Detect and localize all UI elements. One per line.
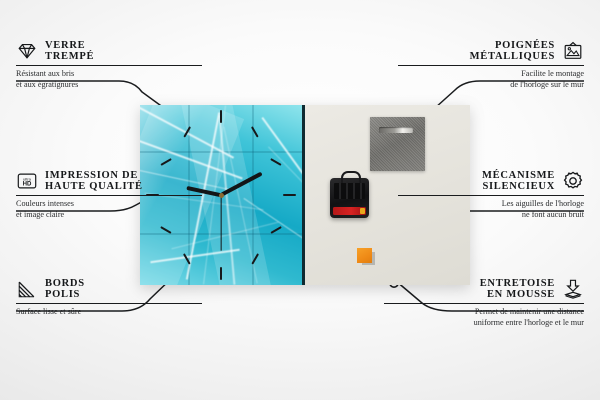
- feature-title: POIGNÉES MÉTALLIQUES: [470, 40, 555, 62]
- feature-description: Couleurs intenses et image claire: [16, 199, 202, 220]
- svg-text:ultra: ultra: [23, 176, 32, 181]
- battery-terminal: [360, 208, 365, 214]
- feature-divider: [384, 303, 584, 304]
- feature-description: Les aiguilles de l'horloge ne font aucun…: [398, 199, 584, 220]
- foam-spacer-icon: [562, 278, 584, 300]
- feature-description: Résistant aux bris et aux égratignures: [16, 69, 202, 90]
- feature-divider: [16, 65, 202, 66]
- feature-title: ENTRETOISE EN MOUSSE: [480, 278, 555, 300]
- foam-spacer: [357, 248, 372, 263]
- clock-movement-box: [330, 178, 369, 218]
- feature-divider: [398, 195, 584, 196]
- hanger-slot: [379, 127, 413, 133]
- feature-description: Facilite le montage de l'horloge sur le …: [398, 69, 584, 90]
- clock-tick-12: [220, 110, 222, 123]
- feature-divider: [16, 303, 202, 304]
- feature-description: Permet de maintenir une distance uniform…: [384, 307, 584, 328]
- infographic-stage: VERRE TREMPÉ Résistant aux bris et aux é…: [0, 0, 600, 400]
- feature-title: IMPRESSION DE HAUTE QUALITÉ: [45, 170, 143, 192]
- movement-hanging-loop: [341, 171, 361, 183]
- clock-center-cap: [219, 193, 224, 198]
- clock-second-hand: [220, 195, 221, 251]
- feature-divider: [16, 195, 202, 196]
- feature-title: VERRE TREMPÉ: [45, 40, 94, 62]
- feature-verre-trempe: VERRE TREMPÉ Résistant aux bris et aux é…: [16, 40, 202, 90]
- ultra-hd-icon: ultra HD: [16, 170, 38, 192]
- feature-description: Surface lisse et sûre: [16, 307, 202, 318]
- movement-label: [334, 183, 365, 199]
- feature-title: MÉCANISME SILENCIEUX: [482, 170, 555, 192]
- feature-title: BORDS POLIS: [45, 278, 85, 300]
- battery: [333, 207, 366, 215]
- svg-text:HD: HD: [23, 182, 32, 188]
- feature-divider: [398, 65, 584, 66]
- feature-impression-haute-qualite: ultra HD IMPRESSION DE HAUTE QUALITÉ Cou…: [16, 170, 202, 220]
- picture-hanger-icon: [562, 40, 584, 62]
- feature-bords-polis: BORDS POLIS Surface lisse et sûre: [16, 278, 202, 318]
- polished-edge-icon: [16, 278, 38, 300]
- clock-tick-6: [220, 267, 222, 280]
- clock-tick-3: [283, 194, 296, 196]
- gear-icon: [562, 170, 584, 192]
- feature-entretoise-en-mousse: ENTRETOISE EN MOUSSE Permet de maintenir…: [384, 278, 584, 328]
- metal-hanger-plate: [370, 117, 425, 171]
- feature-mecanisme-silencieux: MÉCANISME SILENCIEUX Les aiguilles de l'…: [398, 170, 584, 220]
- feature-poignees-metalliques: POIGNÉES MÉTALLIQUES Facilite le montage…: [398, 40, 584, 90]
- diamond-icon: [16, 40, 38, 62]
